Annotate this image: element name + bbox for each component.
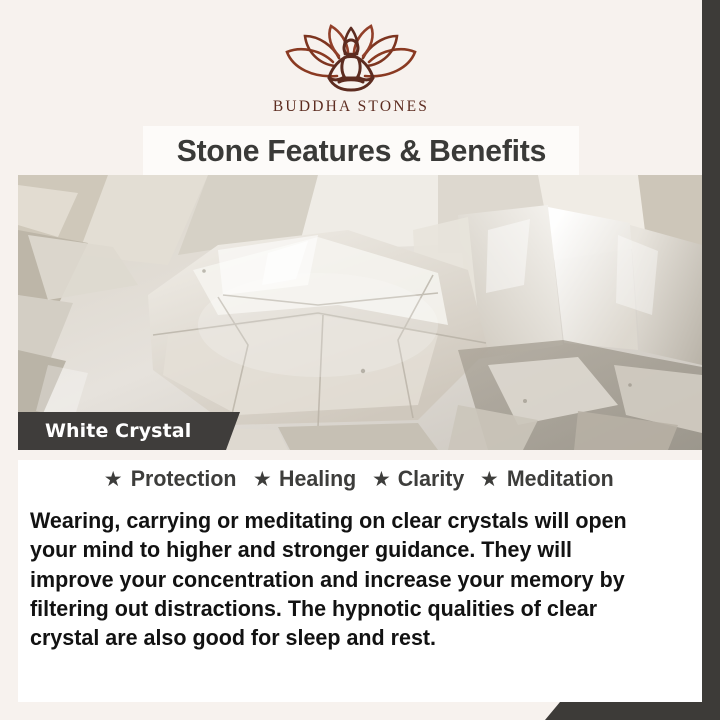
benefit-label: Healing [279,466,356,492]
photo-caption: White Crystal [18,412,240,450]
benefits-row: ★ Protection ★ Healing ★ Clarity ★ Medit… [18,466,702,492]
title-card: Stone Features & Benefits [143,126,579,175]
star-icon: ★ [480,469,499,490]
lotus-meditation-icon [277,22,425,92]
star-icon: ★ [372,469,391,490]
benefit-label: Clarity [398,466,465,492]
photo-caption-label: White Crystal [45,420,191,442]
benefit-item: ★ Protection [104,466,239,492]
description-text: Wearing, carrying or meditating on clear… [30,506,655,652]
star-icon: ★ [104,469,123,490]
content-top-strip [18,450,702,460]
crystal-photo-image [18,175,702,450]
benefit-label: Meditation [507,466,614,492]
benefit-item: ★ Clarity [372,466,466,492]
benefit-item: ★ Meditation [480,466,616,492]
page-title: Stone Features & Benefits [176,133,545,169]
crystal-photo: White Crystal [18,175,702,450]
star-icon: ★ [253,469,272,490]
content-panel: ★ Protection ★ Healing ★ Clarity ★ Medit… [18,450,702,702]
brand-name: BUDDHA STONES [273,98,429,116]
benefit-item: ★ Healing [253,466,358,492]
benefit-label: Protection [130,466,236,492]
brand-logo: BUDDHA STONES [0,22,702,116]
